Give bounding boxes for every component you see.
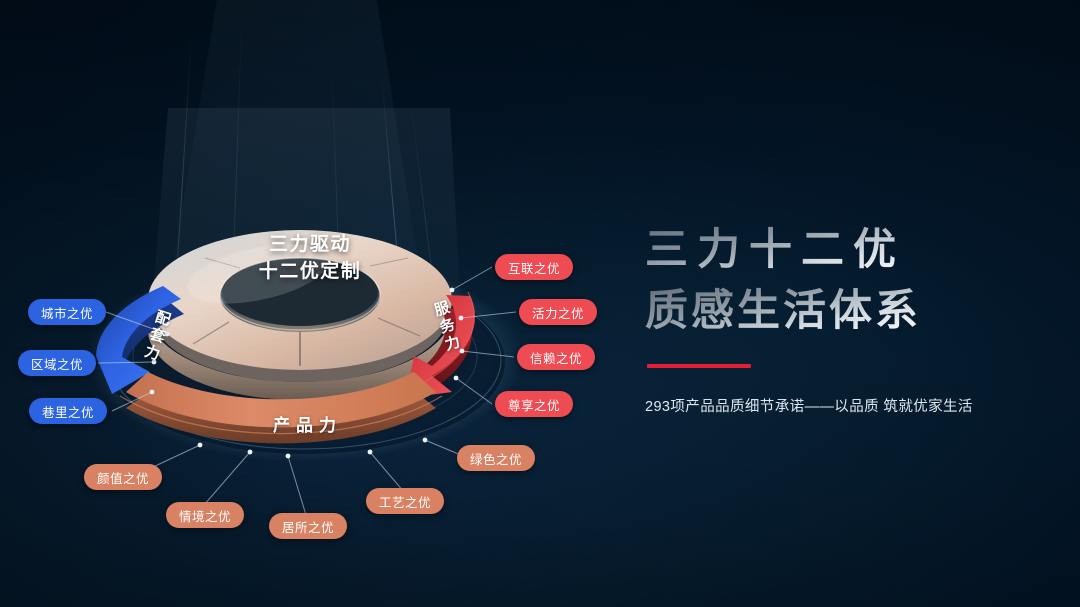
headline-line-1: 三力十二优 <box>645 222 1045 279</box>
pill-service-2[interactable]: 活力之优 <box>519 299 597 325</box>
pill-service-4[interactable]: 尊享之优 <box>495 391 573 417</box>
pill-product-2[interactable]: 情境之优 <box>166 502 244 528</box>
slide-canvas: 配套力 服务力 产品力 三力驱动 十二优定制 城市之优 区域之优 巷里之优 互联… <box>0 0 1080 607</box>
pill-service-1[interactable]: 互联之优 <box>495 254 573 280</box>
subtitle-text: 293项产品品质细节承诺——以品质 筑就优家生活 <box>645 395 1045 416</box>
three-powers-diagram: 配套力 服务力 产品力 三力驱动 十二优定制 城市之优 区域之优 巷里之优 互联… <box>0 0 620 607</box>
pill-product-1[interactable]: 颜值之优 <box>84 464 162 490</box>
pill-product-4[interactable]: 工艺之优 <box>366 488 444 514</box>
pill-service-3[interactable]: 信赖之优 <box>517 344 595 370</box>
headline-line-2: 质感生活体系 <box>645 283 1045 340</box>
pill-supporting-2[interactable]: 区域之优 <box>18 350 96 376</box>
pill-product-3[interactable]: 居所之优 <box>269 513 347 539</box>
pill-supporting-3[interactable]: 巷里之优 <box>29 398 107 424</box>
pill-supporting-1[interactable]: 城市之优 <box>28 299 106 325</box>
accent-rule <box>647 364 751 368</box>
pill-product-5[interactable]: 绿色之优 <box>457 445 535 471</box>
headline-block: 三力十二优 质感生活体系 293项产品品质细节承诺——以品质 筑就优家生活 <box>645 222 1045 416</box>
